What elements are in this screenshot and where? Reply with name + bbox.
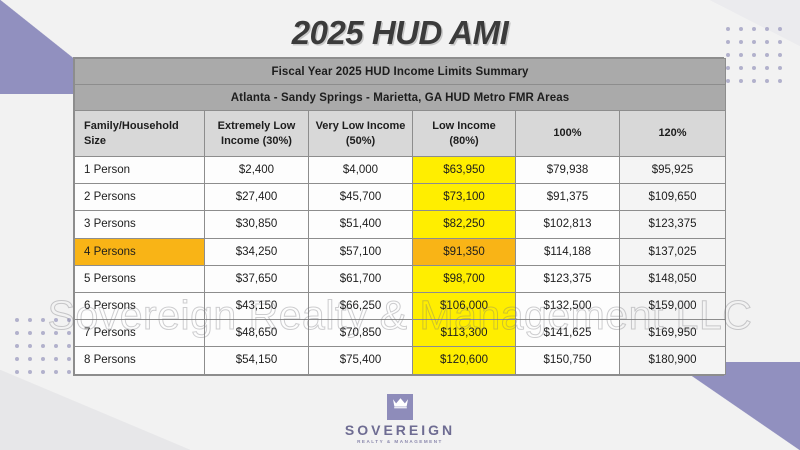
cell-100-percent: $123,375 bbox=[516, 265, 620, 292]
logo-subtitle: REALTY & MANAGEMENT bbox=[357, 440, 443, 445]
cell-very-low-income: $61,700 bbox=[309, 265, 413, 292]
table-row: 1 Person$2,400$4,000$63,950$79,938$95,92… bbox=[75, 157, 726, 184]
cell-100-percent: $91,375 bbox=[516, 184, 620, 211]
cell-120-percent: $137,025 bbox=[620, 238, 726, 265]
column-header-extremely-low-income: Extremely Low Income (30%) bbox=[205, 111, 309, 157]
table-row: 5 Persons$37,650$61,700$98,700$123,375$1… bbox=[75, 265, 726, 292]
cell-very-low-income: $70,850 bbox=[309, 320, 413, 347]
column-header-120-percent: 120% bbox=[620, 111, 726, 157]
cell-extremely-low-income: $27,400 bbox=[205, 184, 309, 211]
cell-120-percent: $95,925 bbox=[620, 157, 726, 184]
cell-extremely-low-income: $34,250 bbox=[205, 238, 309, 265]
cell-very-low-income: $51,400 bbox=[309, 211, 413, 238]
table-row: 6 Persons$43,150$66,250$106,000$132,500$… bbox=[75, 292, 726, 319]
table-row: 2 Persons$27,400$45,700$73,100$91,375$10… bbox=[75, 184, 726, 211]
cell-low-income: $73,100 bbox=[413, 184, 516, 211]
cell-100-percent: $79,938 bbox=[516, 157, 620, 184]
banner-title-fiscal-year: Fiscal Year 2025 HUD Income Limits Summa… bbox=[75, 59, 726, 85]
cell-very-low-income: $4,000 bbox=[309, 157, 413, 184]
cell-100-percent: $114,188 bbox=[516, 238, 620, 265]
cell-120-percent: $159,000 bbox=[620, 292, 726, 319]
column-header-100-percent: 100% bbox=[516, 111, 620, 157]
table-column-headers: Family/Household Size Extremely Low Inco… bbox=[75, 111, 726, 157]
cell-120-percent: $123,375 bbox=[620, 211, 726, 238]
cell-household-size: 7 Persons bbox=[75, 320, 205, 347]
cell-120-percent: $148,050 bbox=[620, 265, 726, 292]
crown-icon bbox=[387, 394, 413, 420]
cell-very-low-income: $45,700 bbox=[309, 184, 413, 211]
cell-household-size: 1 Person bbox=[75, 157, 205, 184]
income-limits-table: Fiscal Year 2025 HUD Income Limits Summa… bbox=[73, 57, 724, 376]
logo-name: SOVEREIGN bbox=[345, 423, 455, 437]
cell-household-size: 6 Persons bbox=[75, 292, 205, 319]
cell-extremely-low-income: $48,650 bbox=[205, 320, 309, 347]
column-header-household-size: Family/Household Size bbox=[75, 111, 205, 157]
cell-120-percent: $180,900 bbox=[620, 347, 726, 374]
cell-low-income: $82,250 bbox=[413, 211, 516, 238]
table-row: 3 Persons$30,850$51,400$82,250$102,813$1… bbox=[75, 211, 726, 238]
cell-low-income: $106,000 bbox=[413, 292, 516, 319]
cell-household-size: 8 Persons bbox=[75, 347, 205, 374]
table-row: 7 Persons$48,650$70,850$113,300$141,625$… bbox=[75, 320, 726, 347]
cell-low-income: $98,700 bbox=[413, 265, 516, 292]
table-banner-primary: Fiscal Year 2025 HUD Income Limits Summa… bbox=[75, 59, 726, 85]
column-header-low-income: Low Income (80%) bbox=[413, 111, 516, 157]
cell-very-low-income: $57,100 bbox=[309, 238, 413, 265]
cell-low-income: $113,300 bbox=[413, 320, 516, 347]
cell-100-percent: $141,625 bbox=[516, 320, 620, 347]
cell-extremely-low-income: $43,150 bbox=[205, 292, 309, 319]
cell-120-percent: $109,650 bbox=[620, 184, 726, 211]
cell-100-percent: $150,750 bbox=[516, 347, 620, 374]
banner-title-metro-area: Atlanta - Sandy Springs - Marietta, GA H… bbox=[75, 85, 726, 111]
cell-100-percent: $102,813 bbox=[516, 211, 620, 238]
cell-extremely-low-income: $30,850 bbox=[205, 211, 309, 238]
cell-120-percent: $169,950 bbox=[620, 320, 726, 347]
cell-low-income: $63,950 bbox=[413, 157, 516, 184]
cell-household-size: 5 Persons bbox=[75, 265, 205, 292]
cell-extremely-low-income: $54,150 bbox=[205, 347, 309, 374]
table-row: 8 Persons$54,150$75,400$120,600$150,750$… bbox=[75, 347, 726, 374]
cell-extremely-low-income: $2,400 bbox=[205, 157, 309, 184]
table-body: 1 Person$2,400$4,000$63,950$79,938$95,92… bbox=[75, 157, 726, 375]
cell-household-size: 3 Persons bbox=[75, 211, 205, 238]
table-banner-secondary: Atlanta - Sandy Springs - Marietta, GA H… bbox=[75, 85, 726, 111]
cell-100-percent: $132,500 bbox=[516, 292, 620, 319]
column-header-very-low-income: Very Low Income (50%) bbox=[309, 111, 413, 157]
page-title: 2025 HUD AMI bbox=[0, 14, 800, 52]
cell-low-income: $120,600 bbox=[413, 347, 516, 374]
cell-household-size: 4 Persons bbox=[75, 238, 205, 265]
cell-very-low-income: $66,250 bbox=[309, 292, 413, 319]
cell-very-low-income: $75,400 bbox=[309, 347, 413, 374]
dot-grid-bottom-left bbox=[10, 313, 75, 378]
cell-household-size: 2 Persons bbox=[75, 184, 205, 211]
company-logo: SOVEREIGN REALTY & MANAGEMENT bbox=[0, 394, 800, 445]
cell-low-income: $91,350 bbox=[413, 238, 516, 265]
cell-extremely-low-income: $37,650 bbox=[205, 265, 309, 292]
table-row: 4 Persons$34,250$57,100$91,350$114,188$1… bbox=[75, 238, 726, 265]
